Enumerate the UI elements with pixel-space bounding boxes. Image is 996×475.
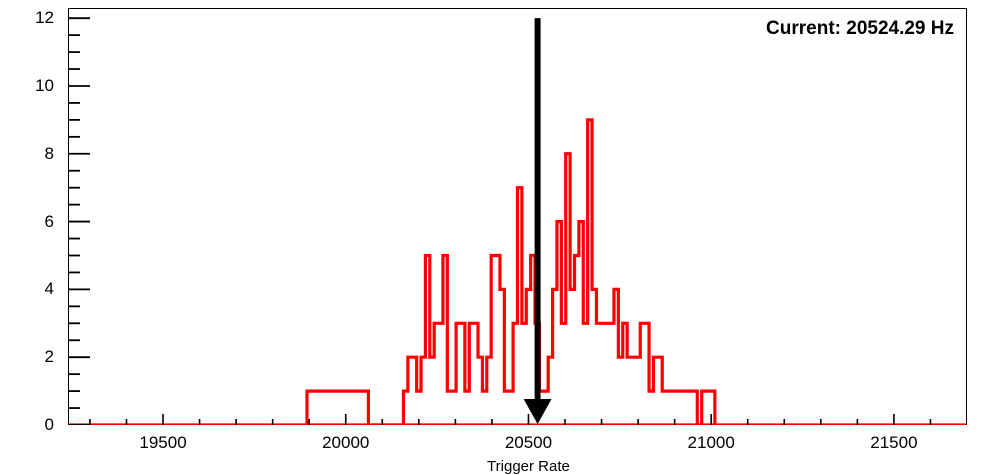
plot-area bbox=[68, 8, 967, 425]
y-tick-label: 4 bbox=[10, 280, 54, 297]
y-tick-label: 2 bbox=[10, 348, 54, 365]
histogram-svg bbox=[68, 8, 967, 425]
y-tick-label: 0 bbox=[10, 416, 54, 433]
y-tick-label: 8 bbox=[10, 145, 54, 162]
histogram-outline bbox=[307, 120, 715, 425]
current-rate-readout: Current: 20524.29 Hz bbox=[766, 18, 954, 40]
y-tick-label: 6 bbox=[10, 213, 54, 230]
x-tick-label: 19500 bbox=[118, 434, 208, 451]
x-tick-label: 21500 bbox=[849, 434, 939, 451]
y-tick-label: 10 bbox=[10, 77, 54, 94]
x-tick-label: 21000 bbox=[666, 434, 756, 451]
x-tick-label: 20000 bbox=[301, 434, 391, 451]
x-tick-label: 20500 bbox=[483, 434, 573, 451]
y-tick-label: 12 bbox=[10, 9, 54, 26]
histogram-canvas: 024681012 1950020000205002100021500 Trig… bbox=[0, 0, 996, 472]
x-axis-title: Trigger Rate bbox=[428, 458, 628, 475]
